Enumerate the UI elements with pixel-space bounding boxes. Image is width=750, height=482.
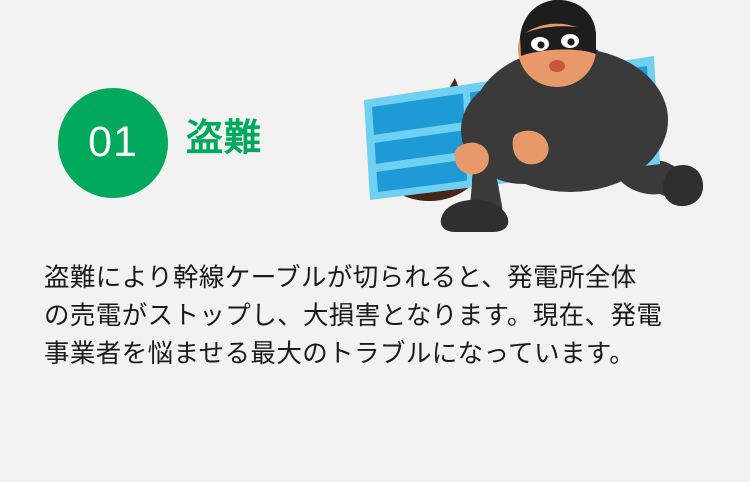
- card-header: 01 盗難: [0, 0, 750, 232]
- body-line: の売電がストップし、大損害となります。現在、発電: [44, 297, 714, 335]
- body-copy: 盗難により幹線ケーブルが切られると、発電所全体 の売電がストップし、大損害となり…: [44, 259, 714, 373]
- section-title: 盗難: [186, 118, 262, 159]
- theft-info-card: 01 盗難: [0, 0, 750, 482]
- body-line: 盗難により幹線ケーブルが切られると、発電所全体: [44, 259, 714, 297]
- body-line: 事業者を悩ませる最大のトラブルになっています。: [44, 335, 714, 373]
- thief-head: [518, 0, 596, 87]
- step-number-badge: 01: [58, 88, 168, 198]
- thief-illustration: [360, 0, 750, 232]
- step-number-label: 01: [88, 121, 138, 164]
